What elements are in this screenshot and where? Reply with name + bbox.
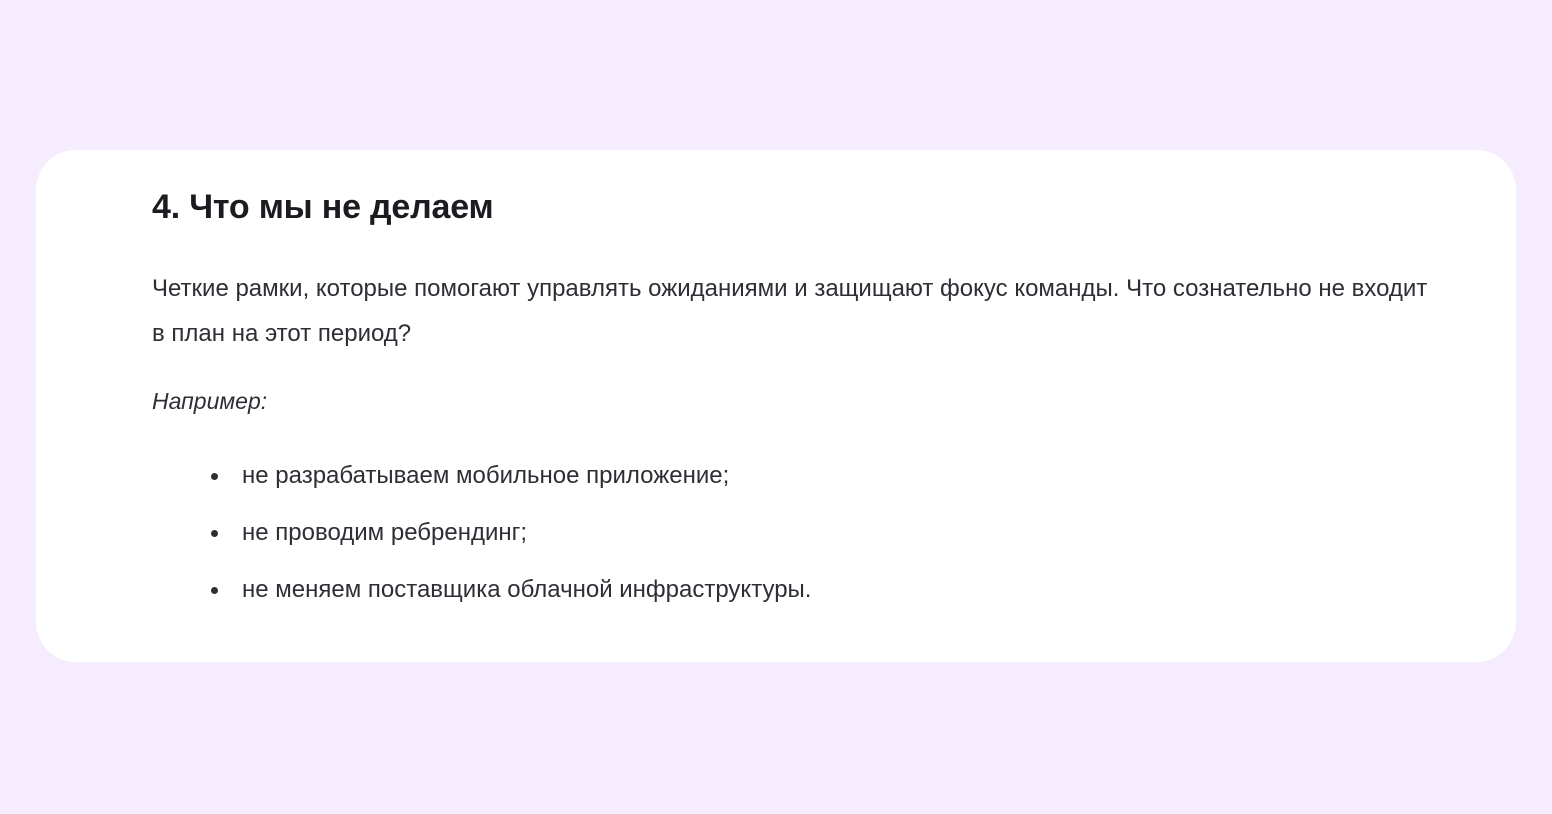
bullet-dot-icon — [211, 587, 218, 594]
page-title: 4. Что мы не делаем — [152, 186, 1460, 228]
example-label: Например: — [152, 385, 1460, 417]
bullet-dot-icon — [211, 473, 218, 480]
exclusion-list: не разрабатываем мобильное приложение; н… — [152, 461, 1460, 605]
intro-paragraph: Четкие рамки, которые помогают управлять… — [152, 266, 1442, 356]
list-item: не проводим ребрендинг; — [152, 518, 1460, 548]
list-item-label: не разрабатываем мобильное приложение; — [242, 462, 729, 489]
bullet-dot-icon — [211, 530, 218, 537]
card-content: 4. Что мы не делаем Четкие рамки, которы… — [36, 150, 1516, 605]
section-card: 4. Что мы не делаем Четкие рамки, которы… — [36, 150, 1516, 662]
list-item: не меняем поставщика облачной инфраструк… — [152, 575, 1460, 605]
list-item-label: не меняем поставщика облачной инфраструк… — [242, 576, 811, 603]
list-item-label: не проводим ребрендинг; — [242, 519, 527, 546]
list-item: не разрабатываем мобильное приложение; — [152, 461, 1460, 491]
page-root: 4. Что мы не делаем Четкие рамки, которы… — [0, 0, 1552, 814]
